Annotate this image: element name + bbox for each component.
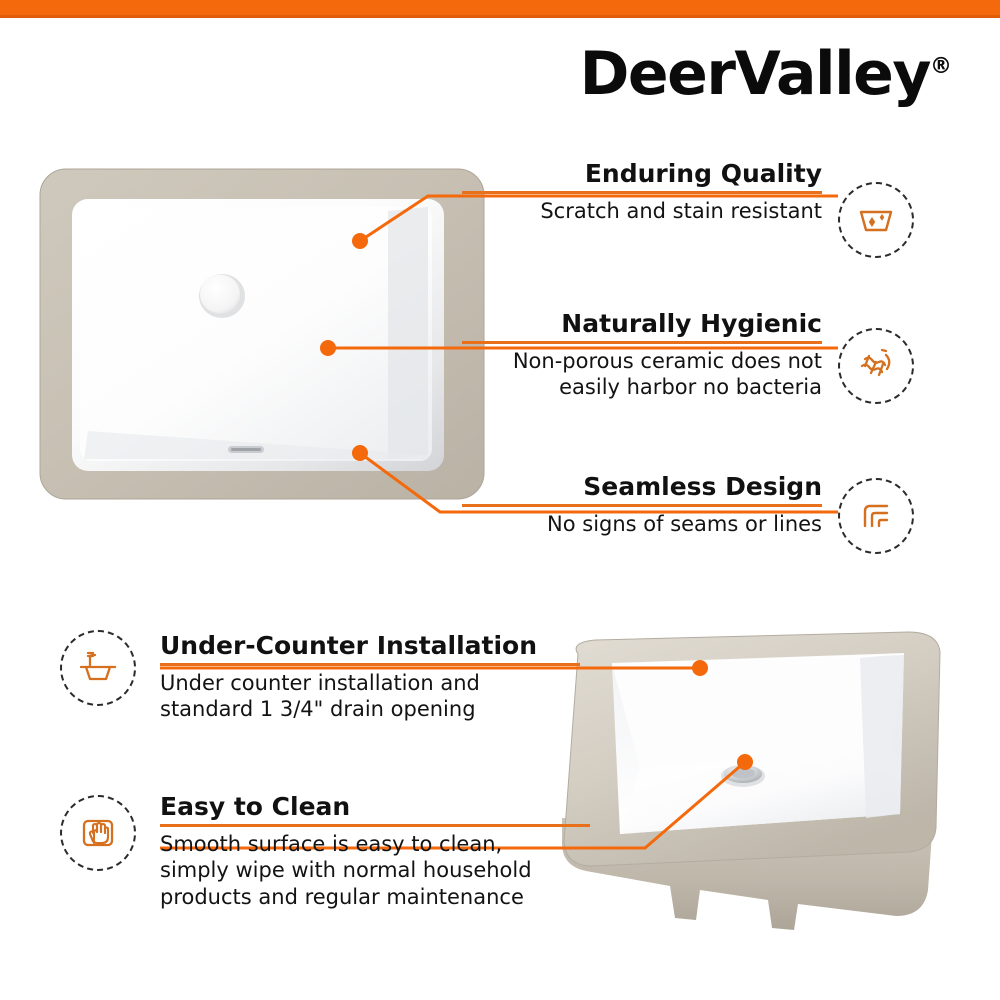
drain-strainer [721,765,765,787]
feature-underline [462,191,822,194]
feature-title: Naturally Hygienic [462,310,822,338]
feature-naturally-hygienic: Naturally Hygienic Non-porous ceramic do… [462,310,822,401]
sparkle-basin-icon [838,182,914,258]
rounded-corner-icon [838,478,914,554]
undermount-sink-icon [60,630,136,706]
feature-description-line: products and regular maintenance [160,884,590,911]
feature-description-line: Under counter installation and [160,670,580,697]
feature-easy-to-clean: Easy to Clean Smooth surface is easy to … [160,793,590,911]
feature-under-counter-installation: Under-Counter Installation Under counter… [160,632,580,723]
feature-underline [160,824,590,827]
feature-enduring-quality: Enduring Quality Scratch and stain resis… [462,160,822,224]
feature-title: Enduring Quality [462,160,822,188]
feature-description-line: No signs of seams or lines [462,511,822,538]
feature-title: Under-Counter Installation [160,632,580,660]
brand-logo: DeerValley® [580,44,952,104]
feature-underline [160,663,580,666]
registered-trademark-symbol: ® [930,54,952,79]
feature-description-line: Scratch and stain resistant [462,198,822,225]
feature-description-line: Smooth surface is easy to clean, [160,831,590,858]
feature-description-line: simply wipe with normal household [160,857,590,884]
top-accent-bar [0,0,1000,15]
feature-description-line: easily harbor no bacteria [462,374,822,401]
feature-description-line: Non-porous ceramic does not [462,348,822,375]
bacteria-icon [838,328,914,404]
sink-top-view-image [36,163,488,509]
hand-wipe-icon [60,795,136,871]
feature-underline [462,341,822,344]
drain-hole [199,274,245,318]
feature-description-line: standard 1 3/4" drain opening [160,696,580,723]
infographic-page: DeerValley® [0,0,1000,1000]
feature-underline [462,504,822,507]
brand-name: DeerValley [580,39,930,109]
feature-title: Seamless Design [462,473,822,501]
overflow-slot [228,446,264,453]
feature-seamless-design: Seamless Design No signs of seams or lin… [462,473,822,537]
feature-title: Easy to Clean [160,793,590,821]
top-accent-bar-edge [0,15,1000,18]
